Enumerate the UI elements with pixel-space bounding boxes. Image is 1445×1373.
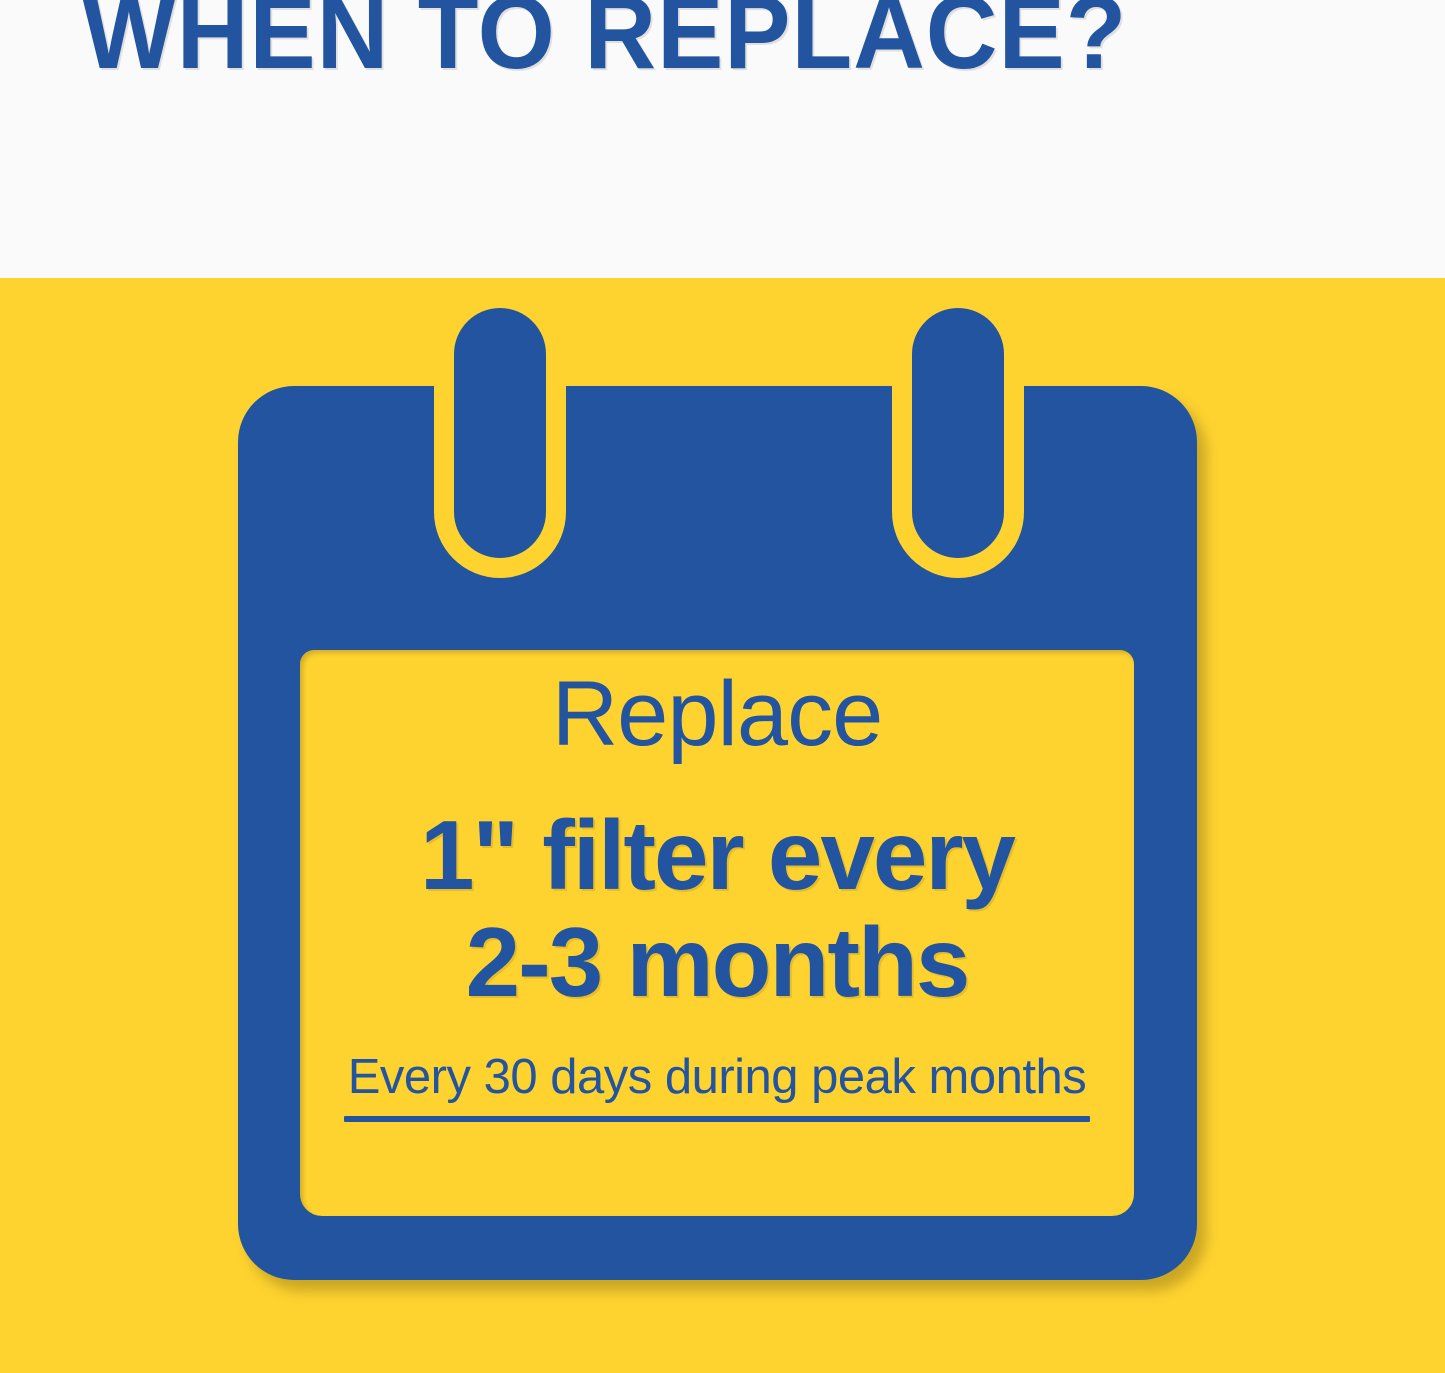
header-band: WHEN TO REPLACE? [0, 0, 1445, 278]
footnote-text: Every 30 days during peak months [300, 1048, 1134, 1106]
infographic-canvas: WHEN TO REPLACE? Replace 1" filter every… [0, 0, 1445, 1373]
calendar-body: Replace 1" filter every 2-3 months Every… [238, 386, 1197, 1280]
calendar-icon: Replace 1" filter every 2-3 months Every… [0, 278, 1445, 1373]
footnote-underline [344, 1116, 1090, 1122]
replace-eyebrow-label: Replace [300, 664, 1134, 764]
calendar-page: Replace 1" filter every 2-3 months Every… [300, 650, 1134, 1216]
yellow-stage: Replace 1" filter every 2-3 months Every… [0, 278, 1445, 1373]
headline-line-2: 2-3 months [300, 909, 1134, 1016]
calendar-hanger-left-icon [454, 308, 546, 558]
page-title: WHEN TO REPLACE? [82, 0, 1304, 85]
replace-headline: 1" filter every 2-3 months [300, 802, 1134, 1016]
calendar-hanger-right-icon [912, 308, 1004, 558]
headline-line-1: 1" filter every [300, 802, 1134, 909]
footnote-block: Every 30 days during peak months [300, 1048, 1134, 1122]
